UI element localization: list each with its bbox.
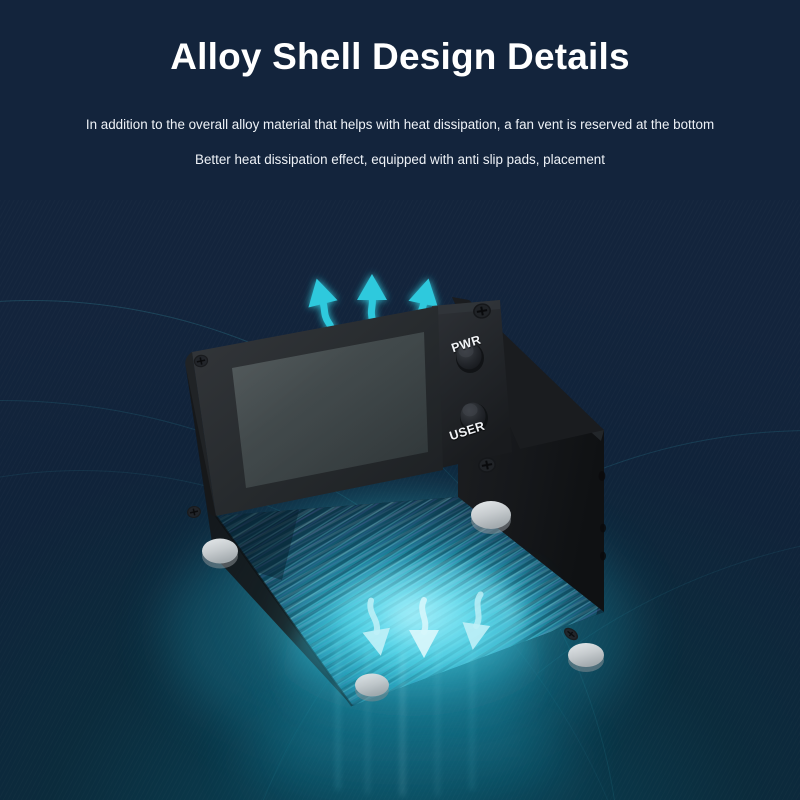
page-title: Alloy Shell Design Details: [0, 36, 800, 78]
control-faceplate: [432, 300, 512, 470]
anti-slip-pad-rear-right: [471, 501, 511, 534]
subtitle-line-1: In addition to the overall alloy materia…: [0, 117, 800, 132]
anti-slip-pad-front-left: [202, 539, 238, 569]
anti-slip-pad-front-center: [355, 674, 389, 702]
product-feature-image: PWR USER Alloy Shell Design Details In a…: [0, 0, 800, 800]
anti-slip-pad-rear-bottom: [568, 643, 604, 672]
screw-bezel-bottom-left: [186, 505, 202, 520]
subtitle-line-2: Better heat dissipation effect, equipped…: [0, 152, 800, 167]
